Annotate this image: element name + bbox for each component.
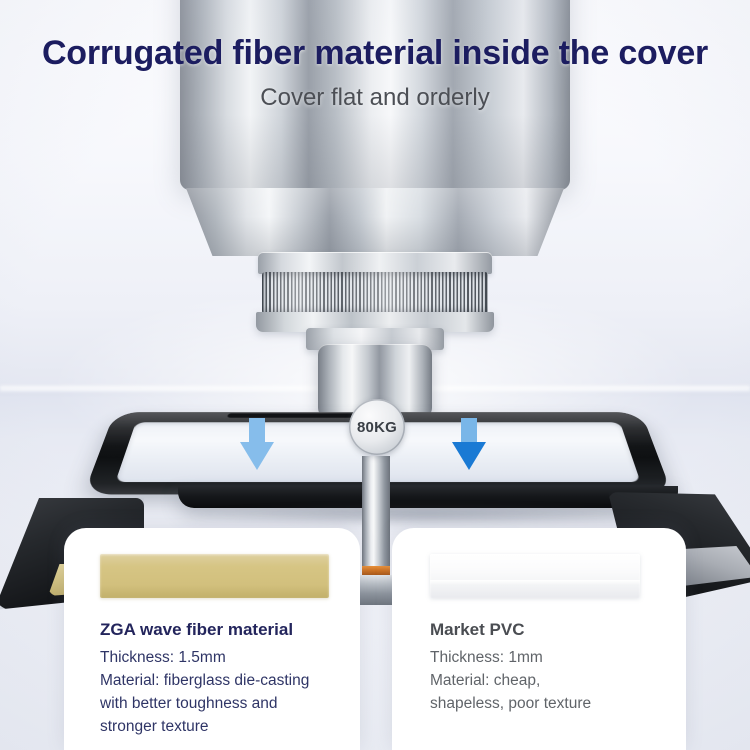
press-shaft-copper-band: [362, 566, 390, 575]
pvc-material-line-1: Material: cheap,: [430, 669, 662, 692]
pvc-thickness-line: Thickness: 1mm: [430, 646, 662, 669]
down-arrow-left-icon: [240, 418, 274, 472]
material-card-zga: ZGA wave fiber material Thickness: 1.5mm…: [64, 528, 360, 750]
arrow-left-stem: [249, 418, 265, 444]
zga-material-line-3: stronger texture: [100, 715, 356, 738]
press-machine-taper: [186, 188, 564, 256]
material-card-pvc: Market PVC Thickness: 1mm Material: chea…: [392, 528, 686, 750]
press-knurled-ring: [262, 272, 488, 314]
weight-badge: 80KG: [349, 399, 405, 455]
zga-material-line-1: Material: fiberglass die-casting: [100, 669, 356, 692]
down-arrow-right-icon: [452, 418, 486, 472]
zga-thickness-line: Thickness: 1.5mm: [100, 646, 356, 669]
material-card-zga-details: Thickness: 1.5mm Material: fiberglass di…: [100, 646, 356, 738]
arrow-right-tip: [452, 442, 486, 470]
material-card-zga-title: ZGA wave fiber material: [100, 620, 348, 640]
page-subtitle: Cover flat and orderly: [0, 84, 750, 112]
material-swatch-zga: [100, 554, 329, 598]
press-shaft: [362, 456, 390, 584]
arrow-right-stem: [461, 418, 477, 444]
material-card-pvc-title: Market PVC: [430, 620, 678, 640]
arrow-left-tip: [240, 442, 274, 470]
page-title: Corrugated fiber material inside the cov…: [0, 34, 750, 73]
material-swatch-pvc: [430, 554, 640, 598]
pvc-material-line-2: shapeless, poor texture: [430, 692, 662, 715]
weight-badge-label: 80KG: [357, 419, 397, 436]
zga-material-line-2: with better toughness and: [100, 692, 356, 715]
press-collar-upper: [258, 252, 492, 274]
material-card-pvc-details: Thickness: 1mm Material: cheap, shapeles…: [430, 646, 662, 715]
press-shaft-foot: [360, 575, 392, 605]
knurl-highlight: [262, 272, 488, 314]
case-ground-shadow: [188, 504, 668, 526]
product-marketing-image: 80KG ZGA wave fiber material T: [0, 0, 750, 750]
press-taper-shading: [186, 188, 564, 256]
